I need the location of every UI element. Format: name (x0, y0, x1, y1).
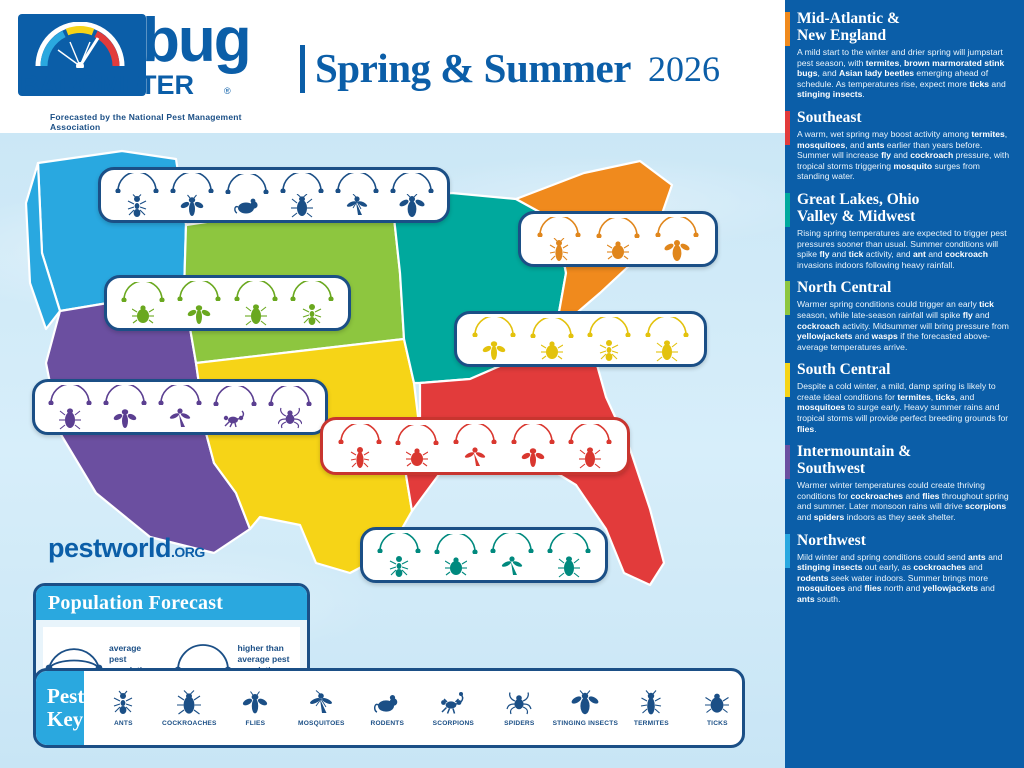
rodent-icon (234, 195, 260, 217)
cockroach-icon (59, 406, 81, 430)
logo-bug-text: bug (142, 10, 250, 72)
fly-icon (113, 406, 137, 430)
population-forecast-title: Population Forecast (36, 586, 307, 620)
pest-key-items: ANTS COCKROACHES FLIES MOSQUITOES (84, 671, 745, 745)
spider-icon (278, 407, 302, 429)
pest-key-name: SCORPIONS (433, 720, 474, 727)
pest-key-item-cockroaches[interactable]: COCKROACHES (156, 690, 222, 727)
region-accent-bar (785, 445, 790, 479)
high-population-arc-icon (395, 425, 439, 445)
callout-pest-ant (377, 533, 421, 578)
pest-key: PestKey ANTS COCKROACHES FLIES (33, 668, 745, 748)
termite-icon (548, 238, 570, 262)
cockroach-icon (579, 445, 601, 469)
high-population-arc-icon (115, 173, 159, 193)
region-forecast-intermountain-southwest: Intermountain &Southwest Warmer winter t… (797, 443, 1014, 522)
high-population-arc-icon (530, 318, 574, 338)
cockroach-icon (291, 194, 313, 218)
high-population-arc-icon (587, 317, 631, 337)
callout-pest-ant (587, 317, 631, 362)
region-forecast-north-central: North Central Warmer spring conditions c… (797, 279, 1014, 352)
callout-pest-cockroach (280, 173, 324, 218)
high-population-arc-icon (490, 533, 534, 553)
tick-icon (132, 303, 154, 325)
region-body: A warm, wet spring may boost activity am… (797, 129, 1014, 182)
pest-key-item-stinging-insects[interactable]: STINGING INSECTS (552, 690, 618, 727)
high-population-arc-icon (158, 385, 202, 405)
high-population-arc-icon (338, 424, 382, 444)
high-population-arc-icon (234, 281, 278, 301)
fly-icon (187, 302, 211, 326)
callout-pest-termite (537, 217, 581, 262)
callout-mid-atlantic-new-england[interactable] (518, 211, 718, 267)
stinging-insect-icon (664, 238, 690, 262)
tick-icon (445, 555, 467, 577)
mosquito-icon (463, 445, 487, 469)
mosquito-icon (500, 554, 524, 578)
infographic-left-panel: bug BAROMETER ® Forecasted by the Nation… (0, 0, 785, 768)
high-population-arc-icon (121, 282, 165, 302)
pest-key-name: FLIES (245, 720, 265, 727)
cockroach-icon (245, 302, 267, 326)
pest-key-item-ticks[interactable]: TICKS (684, 690, 745, 727)
callout-pest-stinging-insect (655, 217, 699, 262)
callout-pest-ant (115, 173, 159, 218)
high-population-arc-icon (596, 218, 640, 238)
region-forecast-southeast: Southeast A warm, wet spring may boost a… (797, 109, 1014, 182)
pest-key-item-spiders[interactable]: SPIDERS (486, 690, 552, 727)
callout-pest-mosquito (158, 385, 202, 430)
stinging-insect-icon (399, 194, 425, 218)
callout-southeast[interactable] (360, 527, 608, 583)
callout-pest-termite (338, 424, 382, 469)
high-population-arc-icon (511, 424, 555, 444)
region-body: Warmer winter temperatures could create … (797, 480, 1014, 522)
callout-pest-scorpion (213, 386, 257, 429)
high-population-arc-icon (434, 534, 478, 554)
callout-north-central[interactable] (104, 275, 351, 331)
callout-pest-fly (177, 281, 221, 326)
pestworld-text: pestworld (48, 533, 171, 563)
high-population-arc-icon (213, 386, 257, 406)
callout-pest-fly (511, 424, 555, 469)
title-divider (300, 45, 305, 93)
callout-pest-fly (472, 317, 516, 362)
rodent-icon (374, 690, 400, 716)
high-population-arc-icon (390, 173, 434, 193)
callout-pest-tick (530, 318, 574, 361)
tick-icon (607, 239, 629, 261)
cockroach-icon (177, 690, 201, 716)
pest-key-name: RODENTS (371, 720, 405, 727)
tick-icon (406, 446, 428, 468)
callout-pest-mosquito (335, 173, 379, 218)
callout-pest-mosquito (453, 424, 497, 469)
region-title: Great Lakes, OhioValley & Midwest (797, 191, 1014, 225)
high-population-arc-icon (655, 217, 699, 237)
fly-icon (242, 690, 268, 716)
callout-pest-cockroach (568, 424, 612, 469)
high-population-arc-icon (645, 317, 689, 337)
callout-pest-fly (103, 385, 147, 430)
callout-pest-cockroach (48, 385, 92, 430)
pest-key-item-ants[interactable]: ANTS (90, 690, 156, 727)
ant-icon (598, 338, 620, 362)
callout-great-lakes-ohio-valley-midwest[interactable] (454, 311, 707, 367)
pest-key-name: STINGING INSECTS (553, 720, 618, 727)
logo-subtitle: Forecasted by the National Pest Manageme… (50, 112, 284, 132)
region-body: Rising spring temperatures are expected … (797, 228, 1014, 270)
pestworld-org-text: .ORG (171, 544, 205, 560)
pest-key-name: ANTS (114, 720, 133, 727)
region-forecast-south-central: South Central Despite a cold winter, a m… (797, 361, 1014, 434)
pest-key-label: PestKey (36, 671, 84, 745)
callout-pest-stinging-insect (390, 173, 434, 218)
tick-icon (541, 339, 563, 361)
stinging-insect-icon (571, 690, 599, 716)
region-forecast-great-lakes-ohio-valley-midwest: Great Lakes, OhioValley & Midwest Rising… (797, 191, 1014, 270)
pest-key-name: TICKS (707, 720, 728, 727)
high-population-arc-icon (103, 385, 147, 405)
pest-key-item-mosquitoes[interactable]: MOSQUITOES (288, 690, 354, 727)
callout-pest-tick (121, 282, 165, 325)
ant-icon (126, 194, 148, 218)
high-population-arc-icon (48, 385, 92, 405)
region-forecast-panel: Mid-Atlantic &New England A mild start t… (785, 0, 1024, 768)
high-population-arc-icon (268, 386, 312, 406)
pest-key-name: MOSQUITOES (298, 720, 345, 727)
ant-icon (388, 554, 410, 578)
callout-pest-rodent (225, 174, 269, 217)
high-population-arc-icon (177, 281, 221, 301)
high-population-arc-icon (170, 173, 214, 193)
callout-pest-ant (290, 281, 334, 326)
scorpion-icon (439, 690, 467, 716)
callout-pest-tick (434, 534, 478, 577)
fly-icon (482, 338, 506, 362)
pest-key-name: COCKROACHES (162, 720, 217, 727)
cockroach-icon (656, 338, 678, 362)
barometer-gauge-icon (34, 22, 126, 68)
mosquito-icon (345, 194, 369, 218)
region-title: North Central (797, 279, 1014, 296)
high-population-arc-icon (377, 533, 421, 553)
termite-icon (349, 445, 371, 469)
high-population-arc-icon (568, 424, 612, 444)
region-accent-bar (785, 111, 790, 145)
high-population-arc-icon (335, 173, 379, 193)
mosquito-icon (308, 690, 334, 716)
scorpion-icon (222, 407, 248, 429)
callout-pest-cockroach (547, 533, 591, 578)
high-population-arc-icon (547, 533, 591, 553)
ant-icon (301, 302, 323, 326)
region-accent-bar (785, 534, 790, 568)
fly-icon (521, 445, 545, 469)
callout-pest-spider (268, 386, 312, 429)
callout-south-central[interactable] (320, 417, 630, 475)
pestworld-wordmark: pestworld.ORG (48, 533, 205, 564)
pest-key-name: TERMITES (634, 720, 669, 727)
high-population-arc-icon (453, 424, 497, 444)
region-forecast-northwest: Northwest Mild winter and spring conditi… (797, 532, 1014, 605)
logo-registered-mark: ® (224, 86, 231, 96)
callout-pest-tick (395, 425, 439, 468)
high-population-arc-icon (472, 317, 516, 337)
cockroach-icon (558, 554, 580, 578)
region-accent-bar (785, 193, 790, 227)
termite-icon (639, 690, 663, 716)
callout-pest-cockroach (234, 281, 278, 326)
ant-icon (112, 690, 134, 716)
pest-key-item-scorpions[interactable]: SCORPIONS (420, 690, 486, 727)
bug-barometer-logo: bug BAROMETER ® Forecasted by the Nation… (12, 8, 284, 124)
high-population-arc-icon (290, 281, 334, 301)
bug-barometer-infographic: bug BAROMETER ® Forecasted by the Nation… (0, 0, 1024, 768)
callout-pest-cockroach (645, 317, 689, 362)
us-region-map: pestworld.ORG (0, 133, 785, 768)
fly-icon (180, 194, 204, 218)
region-body: Warmer spring conditions could trigger a… (797, 299, 1014, 352)
spider-icon (506, 690, 532, 716)
callout-northwest[interactable] (98, 167, 450, 223)
callout-pest-mosquito (490, 533, 534, 578)
pest-key-name: SPIDERS (504, 720, 534, 727)
header: bug BAROMETER ® Forecasted by the Nation… (0, 0, 785, 133)
title-season: Spring & Summer (315, 44, 631, 92)
region-forecast-mid-atlantic-new-england: Mid-Atlantic &New England A mild start t… (797, 10, 1014, 100)
region-accent-bar (785, 363, 790, 397)
region-accent-bar (785, 12, 790, 46)
pest-key-item-flies[interactable]: FLIES (222, 690, 288, 727)
high-population-arc-icon (280, 173, 324, 193)
callout-pest-tick (596, 218, 640, 261)
logo-barometer-text: BAROMETER (20, 70, 194, 100)
region-body: Mild winter and spring conditions could … (797, 552, 1014, 605)
tick-icon (705, 690, 729, 716)
region-body: Despite a cold winter, a mild, damp spri… (797, 381, 1014, 434)
pest-key-item-rodents[interactable]: RODENTS (354, 690, 420, 727)
region-title: Intermountain &Southwest (797, 443, 1014, 477)
high-population-arc-icon (537, 217, 581, 237)
mosquito-icon (168, 406, 192, 430)
title-year: 2026 (648, 48, 720, 90)
region-title: South Central (797, 361, 1014, 378)
region-body: A mild start to the winter and drier spr… (797, 47, 1014, 100)
callout-intermountain-southwest[interactable] (32, 379, 328, 435)
region-title: Northwest (797, 532, 1014, 549)
pest-key-item-termites[interactable]: TERMITES (618, 690, 684, 727)
callout-pest-fly (170, 173, 214, 218)
high-population-arc-icon (225, 174, 269, 194)
region-accent-bar (785, 281, 790, 315)
region-title: Southeast (797, 109, 1014, 126)
region-title: Mid-Atlantic &New England (797, 10, 1014, 44)
